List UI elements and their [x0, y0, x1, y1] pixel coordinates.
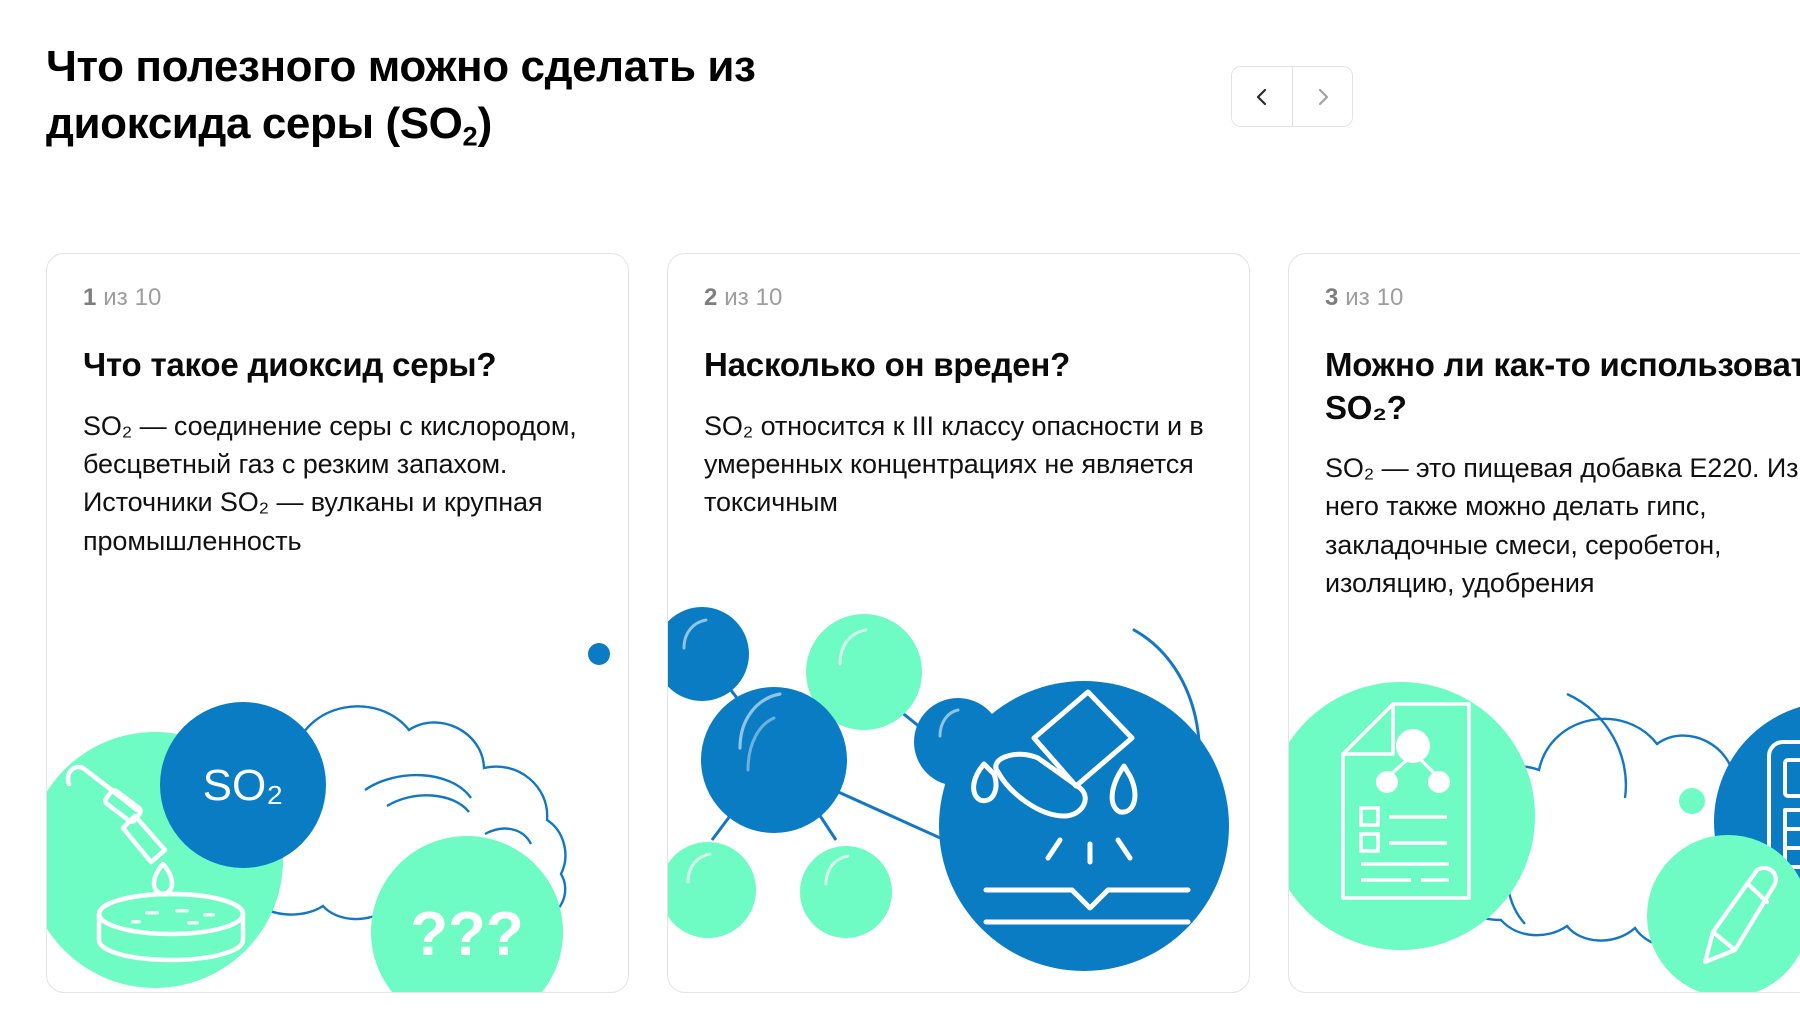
carousel-next-button[interactable]: [1292, 67, 1352, 126]
carousel-card[interactable]: 2 из 10 Насколько он вреден? SO₂ относит…: [667, 253, 1250, 993]
carousel-track[interactable]: 1 из 10 Что такое диоксид серы? SO₂ — со…: [46, 253, 1800, 993]
mint-circle-question-marks: ???: [371, 836, 563, 992]
mint-circle-pen: [1647, 835, 1800, 992]
card-title: Что такое диоксид серы?: [83, 344, 592, 387]
carousel-nav-group: [1231, 66, 1353, 127]
carousel-card[interactable]: 3 из 10 Можно ли как-то использовать SO₂…: [1288, 253, 1800, 993]
page-title-line-2-post: ): [478, 99, 492, 148]
card-content: 1 из 10 Что такое диоксид серы? SO₂ — со…: [47, 254, 628, 560]
blue-cloud-outline: [1446, 694, 1800, 954]
chevron-right-icon: [1315, 85, 1331, 109]
card-text: SO₂ — соединение серы с кислородом, бесц…: [83, 407, 592, 560]
carousel-page: Что полезного можно сделать из диоксида …: [0, 0, 1800, 1024]
card-content: 3 из 10 Можно ли как-то использовать SO₂…: [1289, 254, 1800, 602]
blue-circle-calculator: [1714, 702, 1800, 942]
molecule-corrosive-illustration: [668, 572, 1250, 992]
carousel-prev-button[interactable]: [1232, 67, 1292, 126]
mint-circle-pipette-petri: [47, 732, 283, 988]
molecule-node-graph: [668, 607, 1002, 938]
card-counter: 3 из 10: [1325, 286, 1800, 310]
page-title-subscript: 2: [463, 121, 478, 152]
molecule-bonds: [708, 660, 1020, 874]
document-molecule-diagram: [1376, 729, 1450, 793]
page-title: Что полезного можно сделать из диоксида …: [46, 38, 926, 154]
page-title-line-2-pre: диоксида серы (SO: [46, 99, 463, 148]
document-calculator-cloud-illustration: [1289, 572, 1800, 992]
card-content: 2 из 10 Насколько он вреден? SO₂ относит…: [668, 254, 1249, 522]
blue-cloud-outline: [203, 706, 565, 932]
card-text: SO₂ — это пищевая добавка E220. Из него …: [1325, 449, 1800, 602]
card-counter-rest: из 10: [717, 284, 782, 311]
blue-circle-so2-label: SO₂: [160, 702, 326, 868]
arc-line: [1134, 630, 1199, 846]
card-counter: 2 из 10: [704, 286, 1213, 310]
card-title: Насколько он вреден?: [704, 344, 1213, 387]
card-counter-index: 1: [83, 284, 96, 311]
card-counter-index: 2: [704, 284, 717, 311]
card-counter-rest: из 10: [96, 284, 161, 311]
card-counter-rest: из 10: [1338, 284, 1403, 311]
mint-dot: [1679, 788, 1705, 814]
pipette-petri-cloud-illustration: SO₂ ???: [47, 572, 629, 992]
card-counter-index: 3: [1325, 284, 1338, 311]
blue-circle-corrosive-icon: [939, 681, 1229, 971]
blue-dot: [588, 643, 610, 665]
question-marks-text: ???: [410, 900, 524, 969]
carousel-card[interactable]: 1 из 10 Что такое диоксид серы? SO₂ — со…: [46, 253, 629, 993]
card-counter: 1 из 10: [83, 286, 592, 310]
mint-circle-document-molecule: [1289, 682, 1535, 950]
chevron-left-icon: [1254, 85, 1270, 109]
card-text: SO₂ относится к III классу опасности и в…: [704, 407, 1213, 522]
so2-badge-text: SO₂: [203, 761, 284, 810]
page-header: Что полезного можно сделать из диоксида …: [0, 0, 1800, 215]
card-title: Можно ли как-то использовать SO₂?: [1325, 344, 1800, 429]
page-title-line-1: Что полезного можно сделать из: [46, 42, 756, 91]
